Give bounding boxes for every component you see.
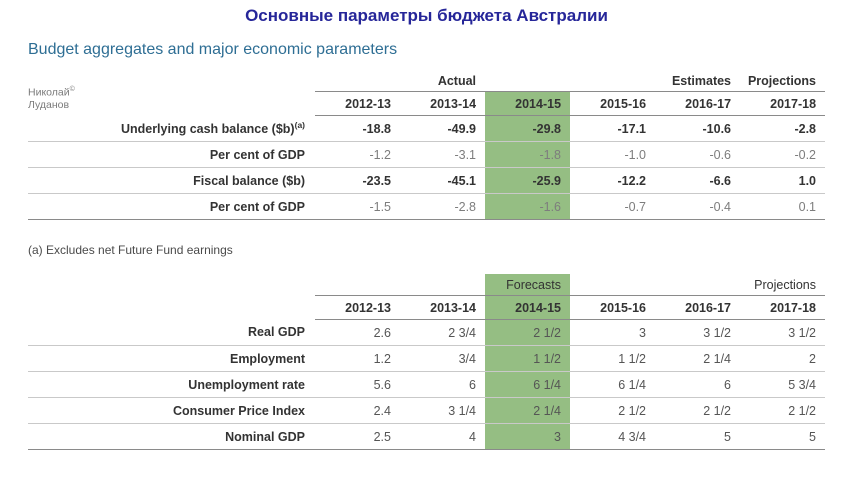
budget-cell: -1.6 <box>485 194 570 220</box>
econ-cell: 1 1/2 <box>485 346 570 372</box>
table-row: Per cent of GDP-1.2-3.1-1.8-1.0-0.6-0.2 <box>28 142 825 168</box>
econ-row-label: Employment <box>28 346 315 372</box>
econ-cell: 6 <box>655 372 740 398</box>
budget-row-label: Per cent of GDP <box>28 142 315 168</box>
econ-cell: 5 <box>655 424 740 450</box>
econ-row-label: Consumer Price Index <box>28 398 315 424</box>
econ-row-label: Real GDP <box>28 320 315 346</box>
econ-cell: 3/4 <box>400 346 485 372</box>
budget-cell: -1.8 <box>485 142 570 168</box>
econ-year-header-2013-14: 2013-14 <box>400 296 485 320</box>
economic-parameters-table-wrapper: ForecastsProjections2012-132013-142014-1… <box>28 274 825 450</box>
econ-row-label: Unemployment rate <box>28 372 315 398</box>
econ-cell: 3 <box>485 424 570 450</box>
budget-row-label: Underlying cash balance ($b)(a) <box>28 116 315 142</box>
budget-cell: -0.7 <box>570 194 655 220</box>
budget-cell: -10.6 <box>655 116 740 142</box>
budget-group-label-projections: Projections <box>740 70 825 92</box>
budget-cell: -18.8 <box>315 116 400 142</box>
table-row: Underlying cash balance ($b)(a)-18.8-49.… <box>28 116 825 142</box>
page-subtitle: Budget aggregates and major economic par… <box>28 41 397 59</box>
econ-cell: 5 3/4 <box>740 372 825 398</box>
budget-cell: -1.5 <box>315 194 400 220</box>
table-row: Per cent of GDP-1.5-2.8-1.6-0.7-0.40.1 <box>28 194 825 220</box>
table2-body: Real GDP2.62 3/42 1/233 1/23 1/2Employme… <box>28 320 825 450</box>
economic-parameters-table: ForecastsProjections2012-132013-142014-1… <box>28 274 825 450</box>
budget-cell: -2.8 <box>740 116 825 142</box>
econ-cell: 2 1/2 <box>570 398 655 424</box>
table-row: Real GDP2.62 3/42 1/233 1/23 1/2 <box>28 320 825 346</box>
budget-year-header-2017-18: 2017-18 <box>740 92 825 116</box>
budget-cell: -23.5 <box>315 168 400 194</box>
budget-row-label: Fiscal balance ($b) <box>28 168 315 194</box>
econ-cell: 2 3/4 <box>400 320 485 346</box>
econ-years-header-row: 2012-132013-142014-152015-162016-172017-… <box>28 296 825 320</box>
budget-cell: -0.4 <box>655 194 740 220</box>
budget-cell: -49.9 <box>400 116 485 142</box>
footnote-marker-a: (a) <box>295 120 305 130</box>
econ-year-header-2015-16: 2015-16 <box>570 296 655 320</box>
econ-year-header-2012-13: 2012-13 <box>315 296 400 320</box>
econ-cell: 6 1/4 <box>485 372 570 398</box>
econ-cell: 2.6 <box>315 320 400 346</box>
econ-group-label-projections: Projections <box>740 274 825 296</box>
budget-year-header-2015-16: 2015-16 <box>570 92 655 116</box>
econ-cell: 2 1/4 <box>485 398 570 424</box>
econ-cell: 3 1/4 <box>400 398 485 424</box>
econ-cell: 1.2 <box>315 346 400 372</box>
budget-group-label-actual: Actual <box>315 70 485 92</box>
budget-cell: -12.2 <box>570 168 655 194</box>
table-row: Consumer Price Index2.43 1/42 1/42 1/22 … <box>28 398 825 424</box>
econ-year-header-2014-15: 2014-15 <box>485 296 570 320</box>
budget-year-header-2014-15: 2014-15 <box>485 92 570 116</box>
budget-cell: -17.1 <box>570 116 655 142</box>
econ-group-header-spacer <box>28 274 315 296</box>
econ-cell: 3 <box>570 320 655 346</box>
econ-cell: 4 3/4 <box>570 424 655 450</box>
econ-group-label-blank-2 <box>570 274 740 296</box>
budget-cell: -45.1 <box>400 168 485 194</box>
budget-cell: -2.8 <box>400 194 485 220</box>
econ-cell: 3 1/2 <box>740 320 825 346</box>
table-row: Unemployment rate5.666 1/46 1/465 3/4 <box>28 372 825 398</box>
budget-row-label: Per cent of GDP <box>28 194 315 220</box>
budget-year-header-2012-13: 2012-13 <box>315 92 400 116</box>
budget-cell: -1.0 <box>570 142 655 168</box>
budget-cell: 0.1 <box>740 194 825 220</box>
econ-cell: 2 <box>740 346 825 372</box>
econ-cell: 2.5 <box>315 424 400 450</box>
budget-cell: -3.1 <box>400 142 485 168</box>
budget-years-header-row: 2012-132013-142014-152015-162016-172017-… <box>28 92 825 116</box>
econ-group-label-blank-0 <box>315 274 485 296</box>
budget-cell: -0.6 <box>655 142 740 168</box>
econ-cell: 5.6 <box>315 372 400 398</box>
budget-group-label-blank-1 <box>485 70 570 92</box>
budget-year-header-2016-17: 2016-17 <box>655 92 740 116</box>
budget-year-header-2013-14: 2013-14 <box>400 92 485 116</box>
budget-cell: -25.9 <box>485 168 570 194</box>
econ-cell: 2 1/2 <box>485 320 570 346</box>
table-row: Employment1.23/41 1/21 1/22 1/42 <box>28 346 825 372</box>
budget-cell: -29.8 <box>485 116 570 142</box>
table-row: Fiscal balance ($b)-23.5-45.1-25.9-12.2-… <box>28 168 825 194</box>
page-title: Основные параметры бюджета Австралии <box>0 6 853 26</box>
budget-cell: 1.0 <box>740 168 825 194</box>
econ-year-header-2017-18: 2017-18 <box>740 296 825 320</box>
page-root: Основные параметры бюджета Австралии Bud… <box>0 0 853 480</box>
econ-group-header-row: ForecastsProjections <box>28 274 825 296</box>
table1-body: Underlying cash balance ($b)(a)-18.8-49.… <box>28 116 825 220</box>
econ-cell: 6 <box>400 372 485 398</box>
budget-cell: -0.2 <box>740 142 825 168</box>
econ-cell: 5 <box>740 424 825 450</box>
budget-aggregates-table: ActualEstimatesProjections2012-132013-14… <box>28 70 825 220</box>
budget-cell: -1.2 <box>315 142 400 168</box>
table2-head: ForecastsProjections2012-132013-142014-1… <box>28 274 825 320</box>
budget-group-label-estimates: Estimates <box>570 70 740 92</box>
budget-years-header-spacer <box>28 92 315 116</box>
econ-years-header-spacer <box>28 296 315 320</box>
budget-aggregates-table-wrapper: ActualEstimatesProjections2012-132013-14… <box>28 70 825 220</box>
econ-year-header-2016-17: 2016-17 <box>655 296 740 320</box>
econ-row-label: Nominal GDP <box>28 424 315 450</box>
econ-cell: 2 1/4 <box>655 346 740 372</box>
econ-cell: 3 1/2 <box>655 320 740 346</box>
table1-head: ActualEstimatesProjections2012-132013-14… <box>28 70 825 116</box>
econ-cell: 2 1/2 <box>655 398 740 424</box>
econ-cell: 1 1/2 <box>570 346 655 372</box>
econ-cell: 6 1/4 <box>570 372 655 398</box>
budget-cell: -6.6 <box>655 168 740 194</box>
footnote-excludes-future-fund: (a) Excludes net Future Fund earnings <box>28 243 233 257</box>
econ-group-label-forecasts: Forecasts <box>485 274 570 296</box>
econ-cell: 2.4 <box>315 398 400 424</box>
econ-cell: 4 <box>400 424 485 450</box>
budget-group-header-spacer <box>28 70 315 92</box>
table-row: Nominal GDP2.5434 3/455 <box>28 424 825 450</box>
econ-cell: 2 1/2 <box>740 398 825 424</box>
budget-group-header-row: ActualEstimatesProjections <box>28 70 825 92</box>
